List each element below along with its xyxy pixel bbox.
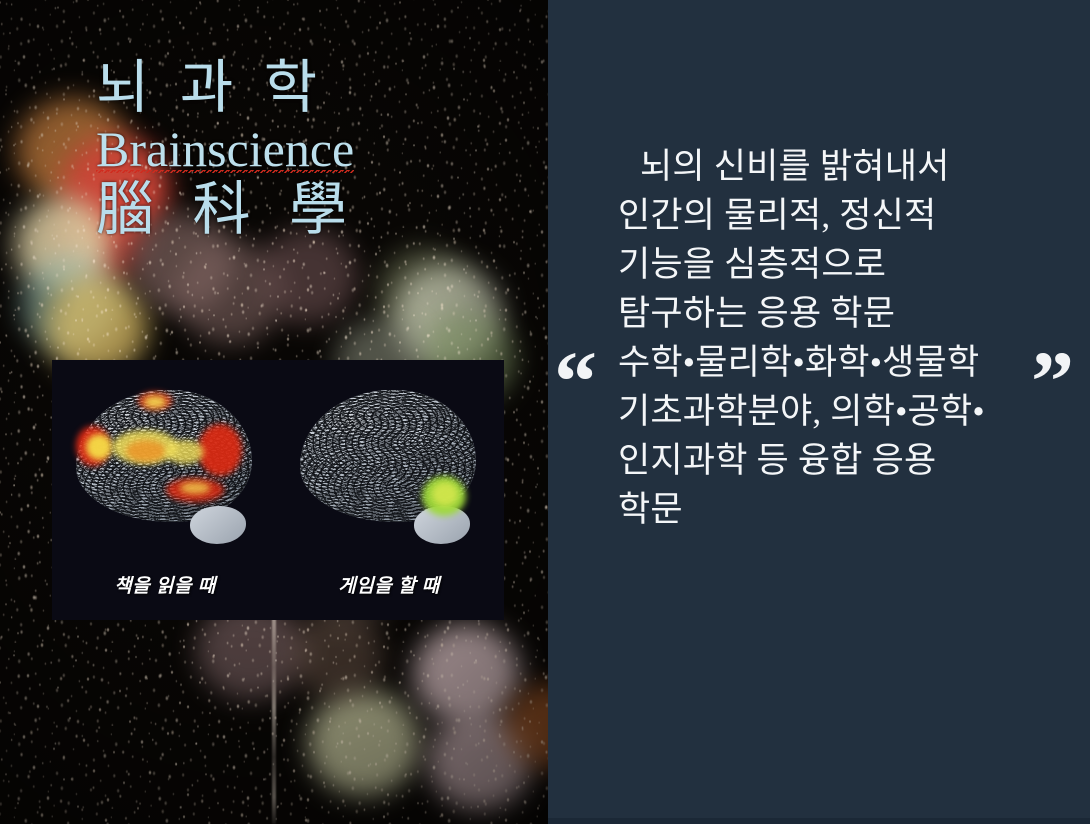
activation-yellow-frontal	[86, 434, 112, 460]
brain-reading	[70, 378, 260, 548]
spellcheck-underline	[96, 169, 354, 173]
activation-red-posterior	[198, 424, 242, 476]
brain-row	[52, 378, 504, 563]
brain-gaming	[294, 378, 484, 548]
title-english-wrapper: Brainscience	[96, 123, 354, 176]
description-paragraph-1: 뇌의 신비를 밝혀내서 인간의 물리적, 정신적 기능을 심층적으로 탐구하는 …	[618, 142, 1010, 338]
title-korean: 뇌 과 학	[96, 58, 359, 117]
activation-yellow-top	[144, 396, 166, 408]
title-block: 뇌 과 학 Brainscience 腦 科 學	[96, 58, 359, 240]
title-hanja: 腦 科 學	[96, 180, 359, 240]
panel-bottom-edge	[548, 818, 1090, 824]
activation-yellowgreen-occipital	[432, 482, 458, 506]
quote-close-icon: ”	[1031, 338, 1074, 424]
caption-reading: 책을 읽을 때	[70, 571, 260, 598]
description-text: 뇌의 신비를 밝혀내서 인간의 물리적, 정신적 기능을 심층적으로 탐구하는 …	[618, 142, 1010, 534]
description-paragraph-2: 수학•물리학•화학•생물학 기초과학분야, 의학•공학•인지과학 등 융합 응용…	[618, 338, 1010, 534]
brain-reading-cerebellum	[190, 506, 246, 544]
caption-gaming: 게임을 할 때	[294, 571, 484, 598]
text-panel: “ 뇌의 신비를 밝혀내서 인간의 물리적, 정신적 기능을 심층적으로 탐구하…	[548, 0, 1090, 824]
activation-orange-mid	[126, 440, 166, 462]
brain-comparison-figure: 책을 읽을 때 게임을 할 때	[52, 360, 504, 620]
quote-open-icon: “	[554, 338, 597, 424]
activation-yellow-posterior	[166, 440, 204, 464]
slide-root: 뇌 과 학 Brainscience 腦 科 學	[0, 0, 1090, 824]
activation-yellow-temporal	[180, 482, 210, 494]
